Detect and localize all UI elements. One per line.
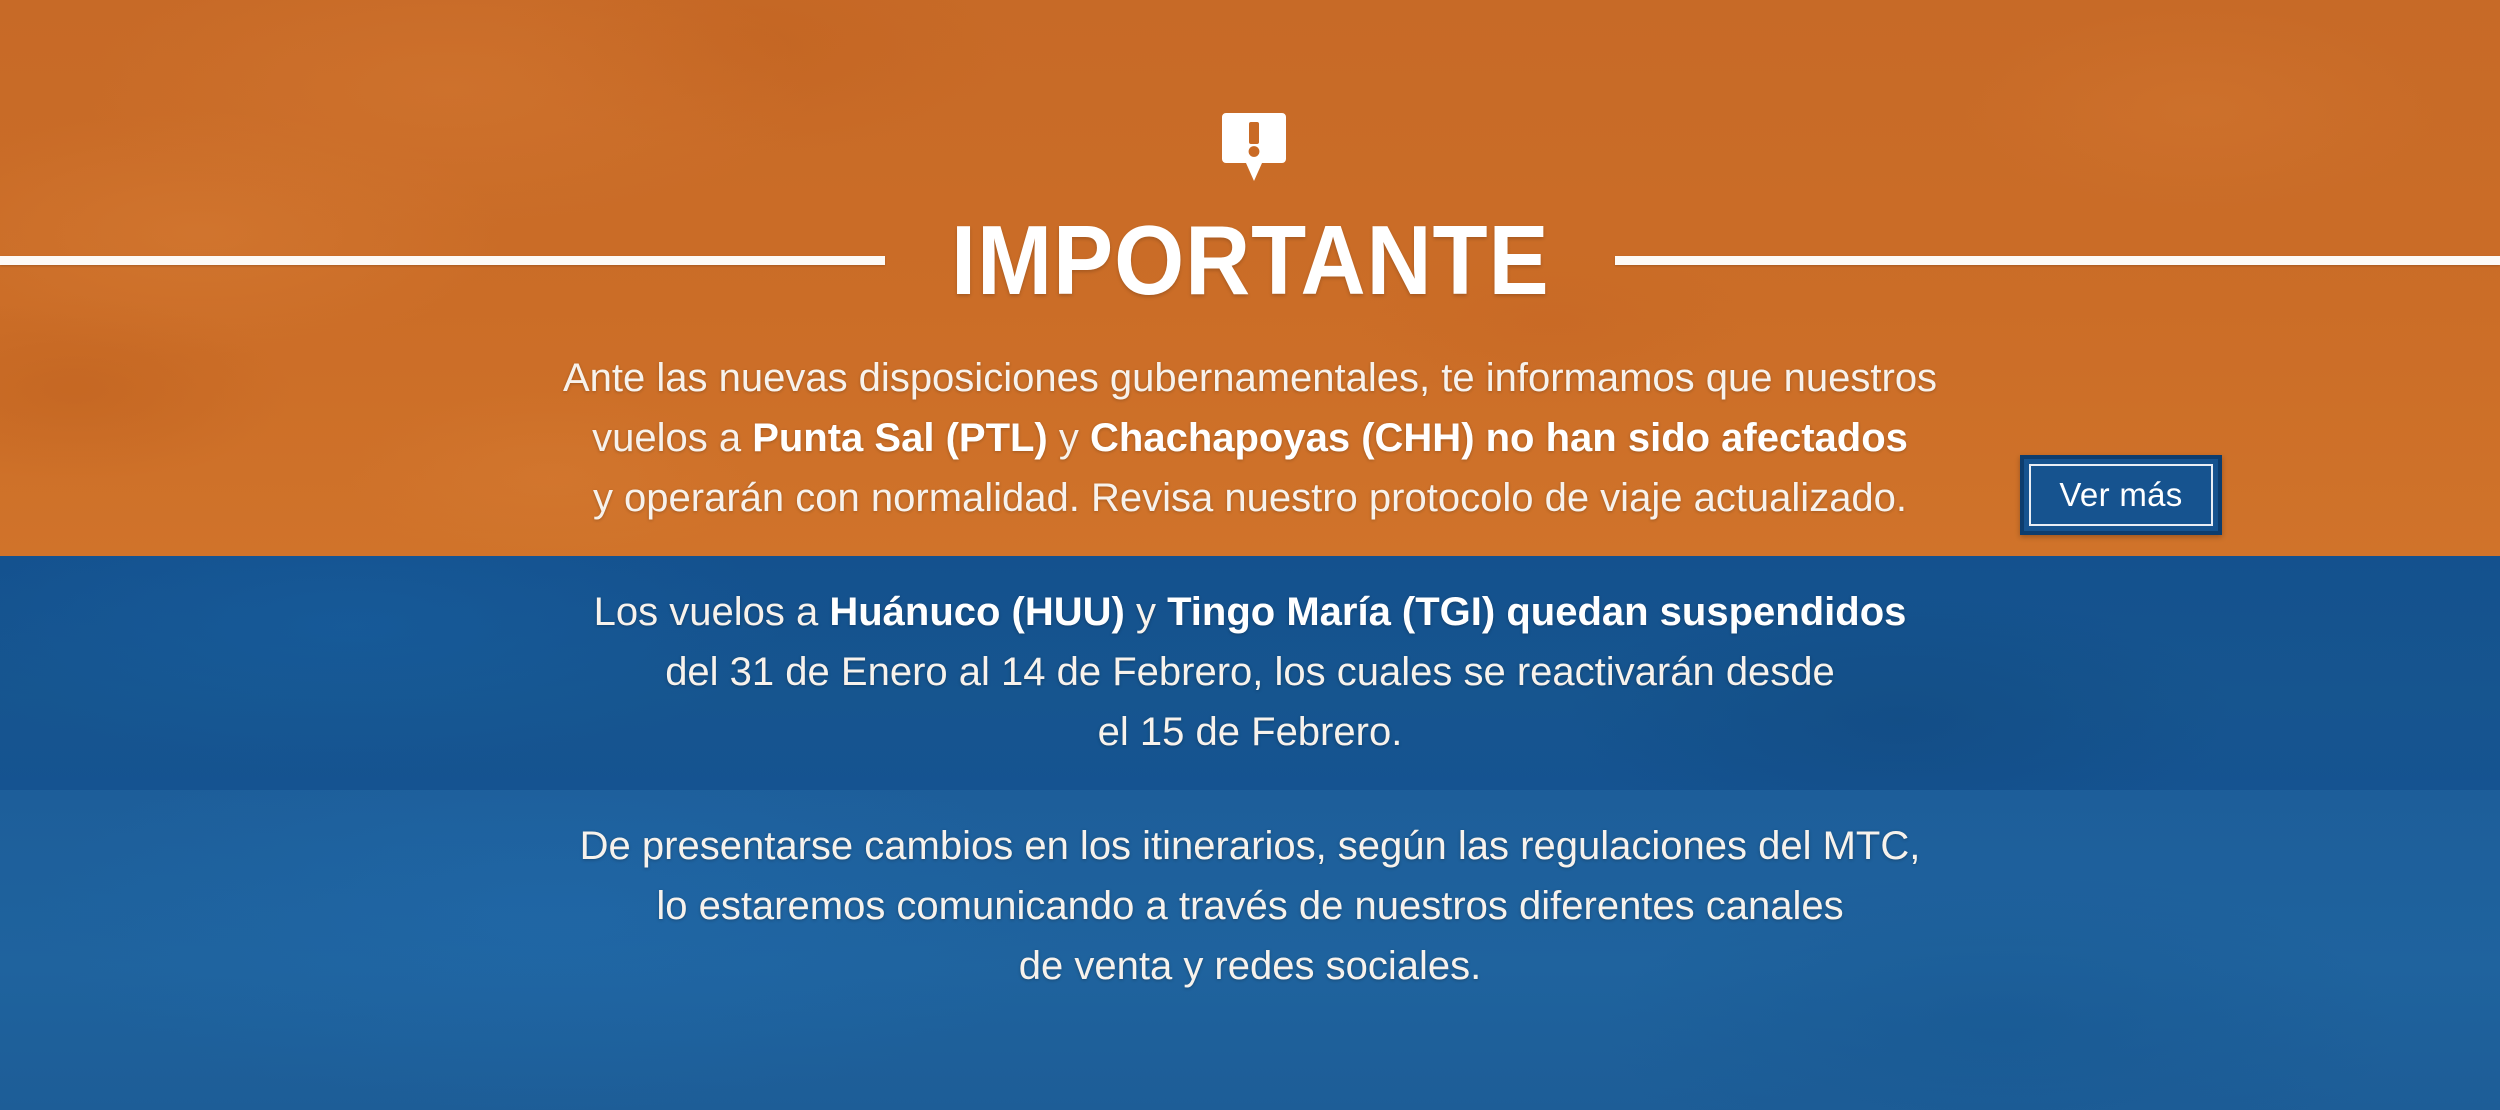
orange-line2-mid: y — [1048, 416, 1090, 460]
blue-dark-line1-pre: Los vuelos a — [594, 590, 830, 634]
alert-speech-bubble-icon — [1222, 113, 1286, 181]
page-title: IMPORTANTE — [951, 211, 1550, 309]
ver-mas-button[interactable]: Ver más — [2020, 455, 2222, 535]
divider-line-left — [0, 256, 885, 265]
blue-dark-line-3: el 15 de Febrero. — [0, 702, 2500, 762]
blue-dark-line1-bold-huanuco: Huánuco (HUU) — [829, 590, 1125, 634]
blue-light-body: De presentarse cambios en los itinerario… — [0, 816, 2500, 996]
blue-dark-line-1: Los vuelos a Huánuco (HUU) y Tingo María… — [0, 582, 2500, 642]
orange-line-1: Ante las nuevas disposiciones gubernamen… — [0, 348, 2500, 408]
ver-mas-button-label: Ver más — [2029, 464, 2213, 526]
title-row: IMPORTANTE — [0, 205, 2500, 315]
orange-line2-bold-chachapoyas: Chachapoyas (CHH) no han sido afectados — [1090, 416, 1908, 460]
divider-line-right — [1615, 256, 2500, 265]
blue-dark-body: Los vuelos a Huánuco (HUU) y Tingo María… — [0, 582, 2500, 762]
blue-light-line-1: De presentarse cambios en los itinerario… — [0, 816, 2500, 876]
orange-line2-bold-punta-sal: Punta Sal (PTL) — [752, 416, 1048, 460]
importante-announcement-banner: IMPORTANTE Ante las nuevas disposiciones… — [0, 0, 2500, 1110]
blue-dark-line1-bold-tingo-maria: Tingo María (TGI) quedan suspendidos — [1167, 590, 1906, 634]
blue-light-line-3: de venta y redes sociales. — [0, 936, 2500, 996]
blue-dark-line1-mid: y — [1125, 590, 1167, 634]
itinerary-changes-section: De presentarse cambios en los itinerario… — [0, 790, 2500, 1110]
suspended-flights-section: Los vuelos a Huánuco (HUU) y Tingo María… — [0, 556, 2500, 790]
orange-line2-pre: vuelos a — [592, 416, 752, 460]
orange-notice-section: IMPORTANTE Ante las nuevas disposiciones… — [0, 0, 2500, 556]
blue-dark-line-2: del 31 de Enero al 14 de Febrero, los cu… — [0, 642, 2500, 702]
blue-light-line-2: lo estaremos comunicando a través de nue… — [0, 876, 2500, 936]
